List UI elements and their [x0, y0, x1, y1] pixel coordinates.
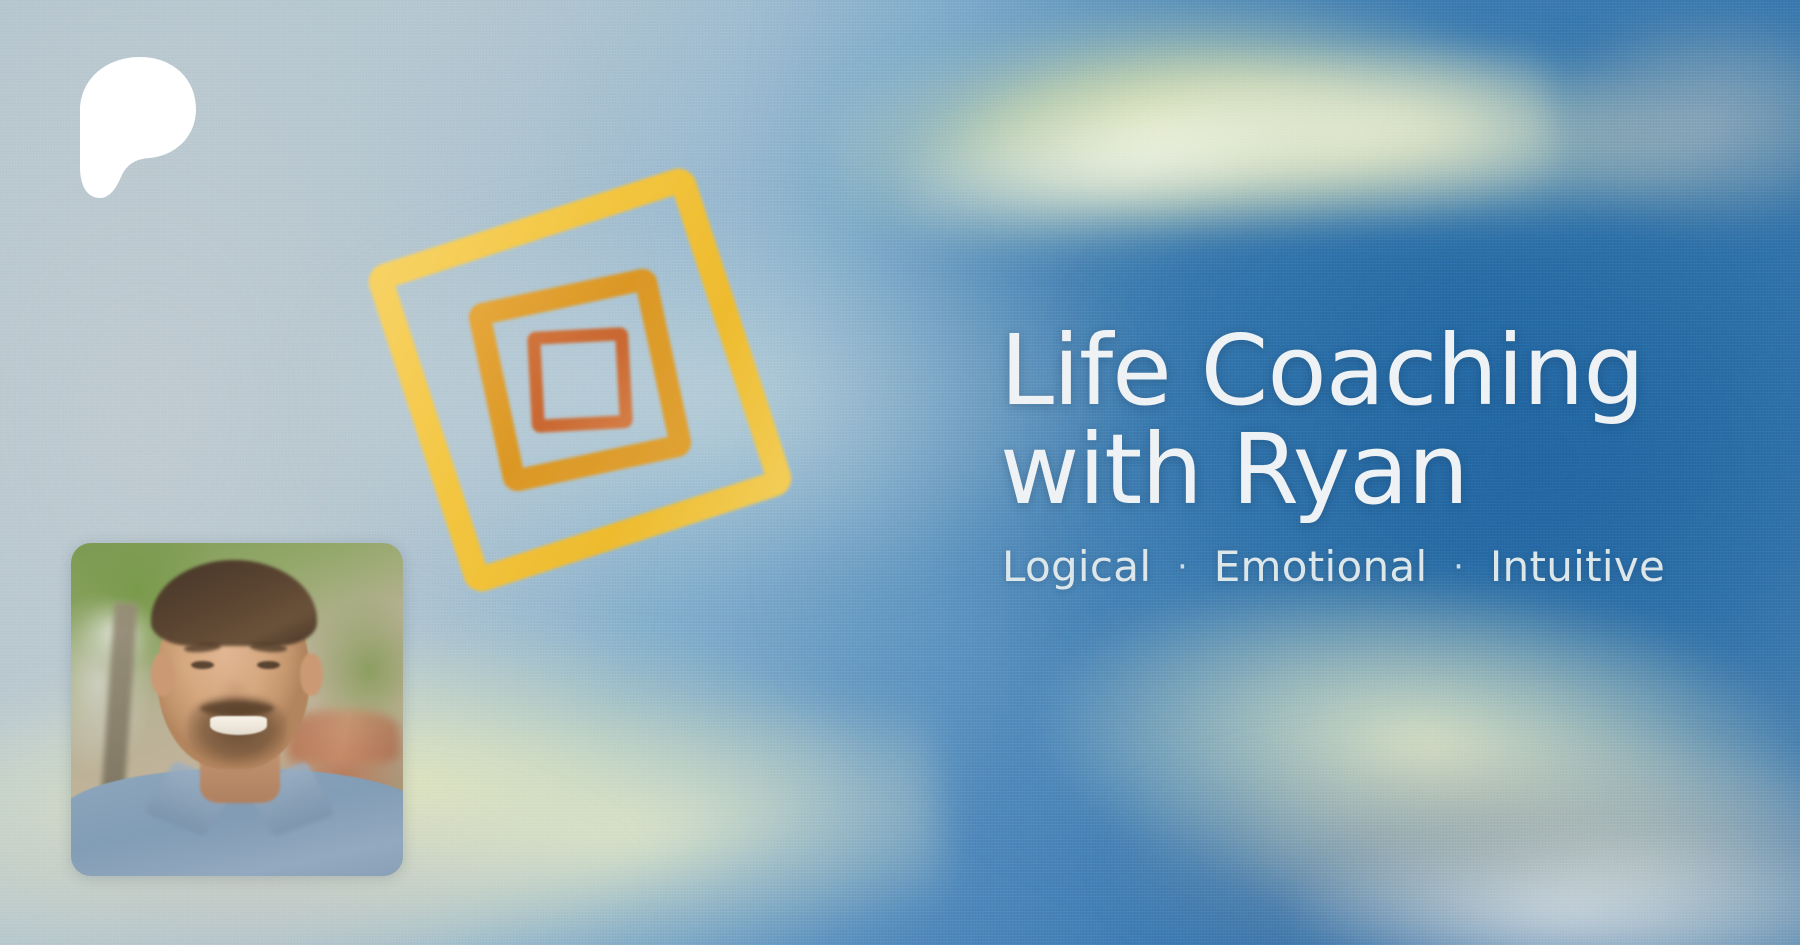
avatar-mustache — [200, 701, 273, 716]
creator-cover-banner: Life Coaching with Ryan Logical · Emotio… — [0, 0, 1800, 945]
tagline-separator-1: · — [1165, 547, 1200, 587]
creator-avatar[interactable]: Smiling man with short hair and a goatee… — [71, 543, 403, 876]
avatar-bg-roof-tiles — [287, 710, 400, 763]
page-title-line-2: with Ryan — [1000, 419, 1680, 522]
avatar-ear-left — [151, 653, 174, 696]
tagline: Logical · Emotional · Intuitive — [1002, 544, 1680, 590]
tagline-separator-2: · — [1441, 547, 1476, 587]
tagline-item-logical: Logical — [1002, 542, 1151, 591]
avatar-smile — [210, 716, 266, 735]
nested-diamonds-icon — [345, 145, 815, 615]
tagline-item-intuitive: Intuitive — [1490, 542, 1665, 591]
patreon-logo-icon[interactable] — [78, 55, 198, 200]
page-title-line-1: Life Coaching — [1000, 320, 1680, 423]
hero-text-block: Life Coaching with Ryan Logical · Emotio… — [1000, 320, 1680, 590]
tagline-item-emotional: Emotional — [1214, 542, 1428, 591]
